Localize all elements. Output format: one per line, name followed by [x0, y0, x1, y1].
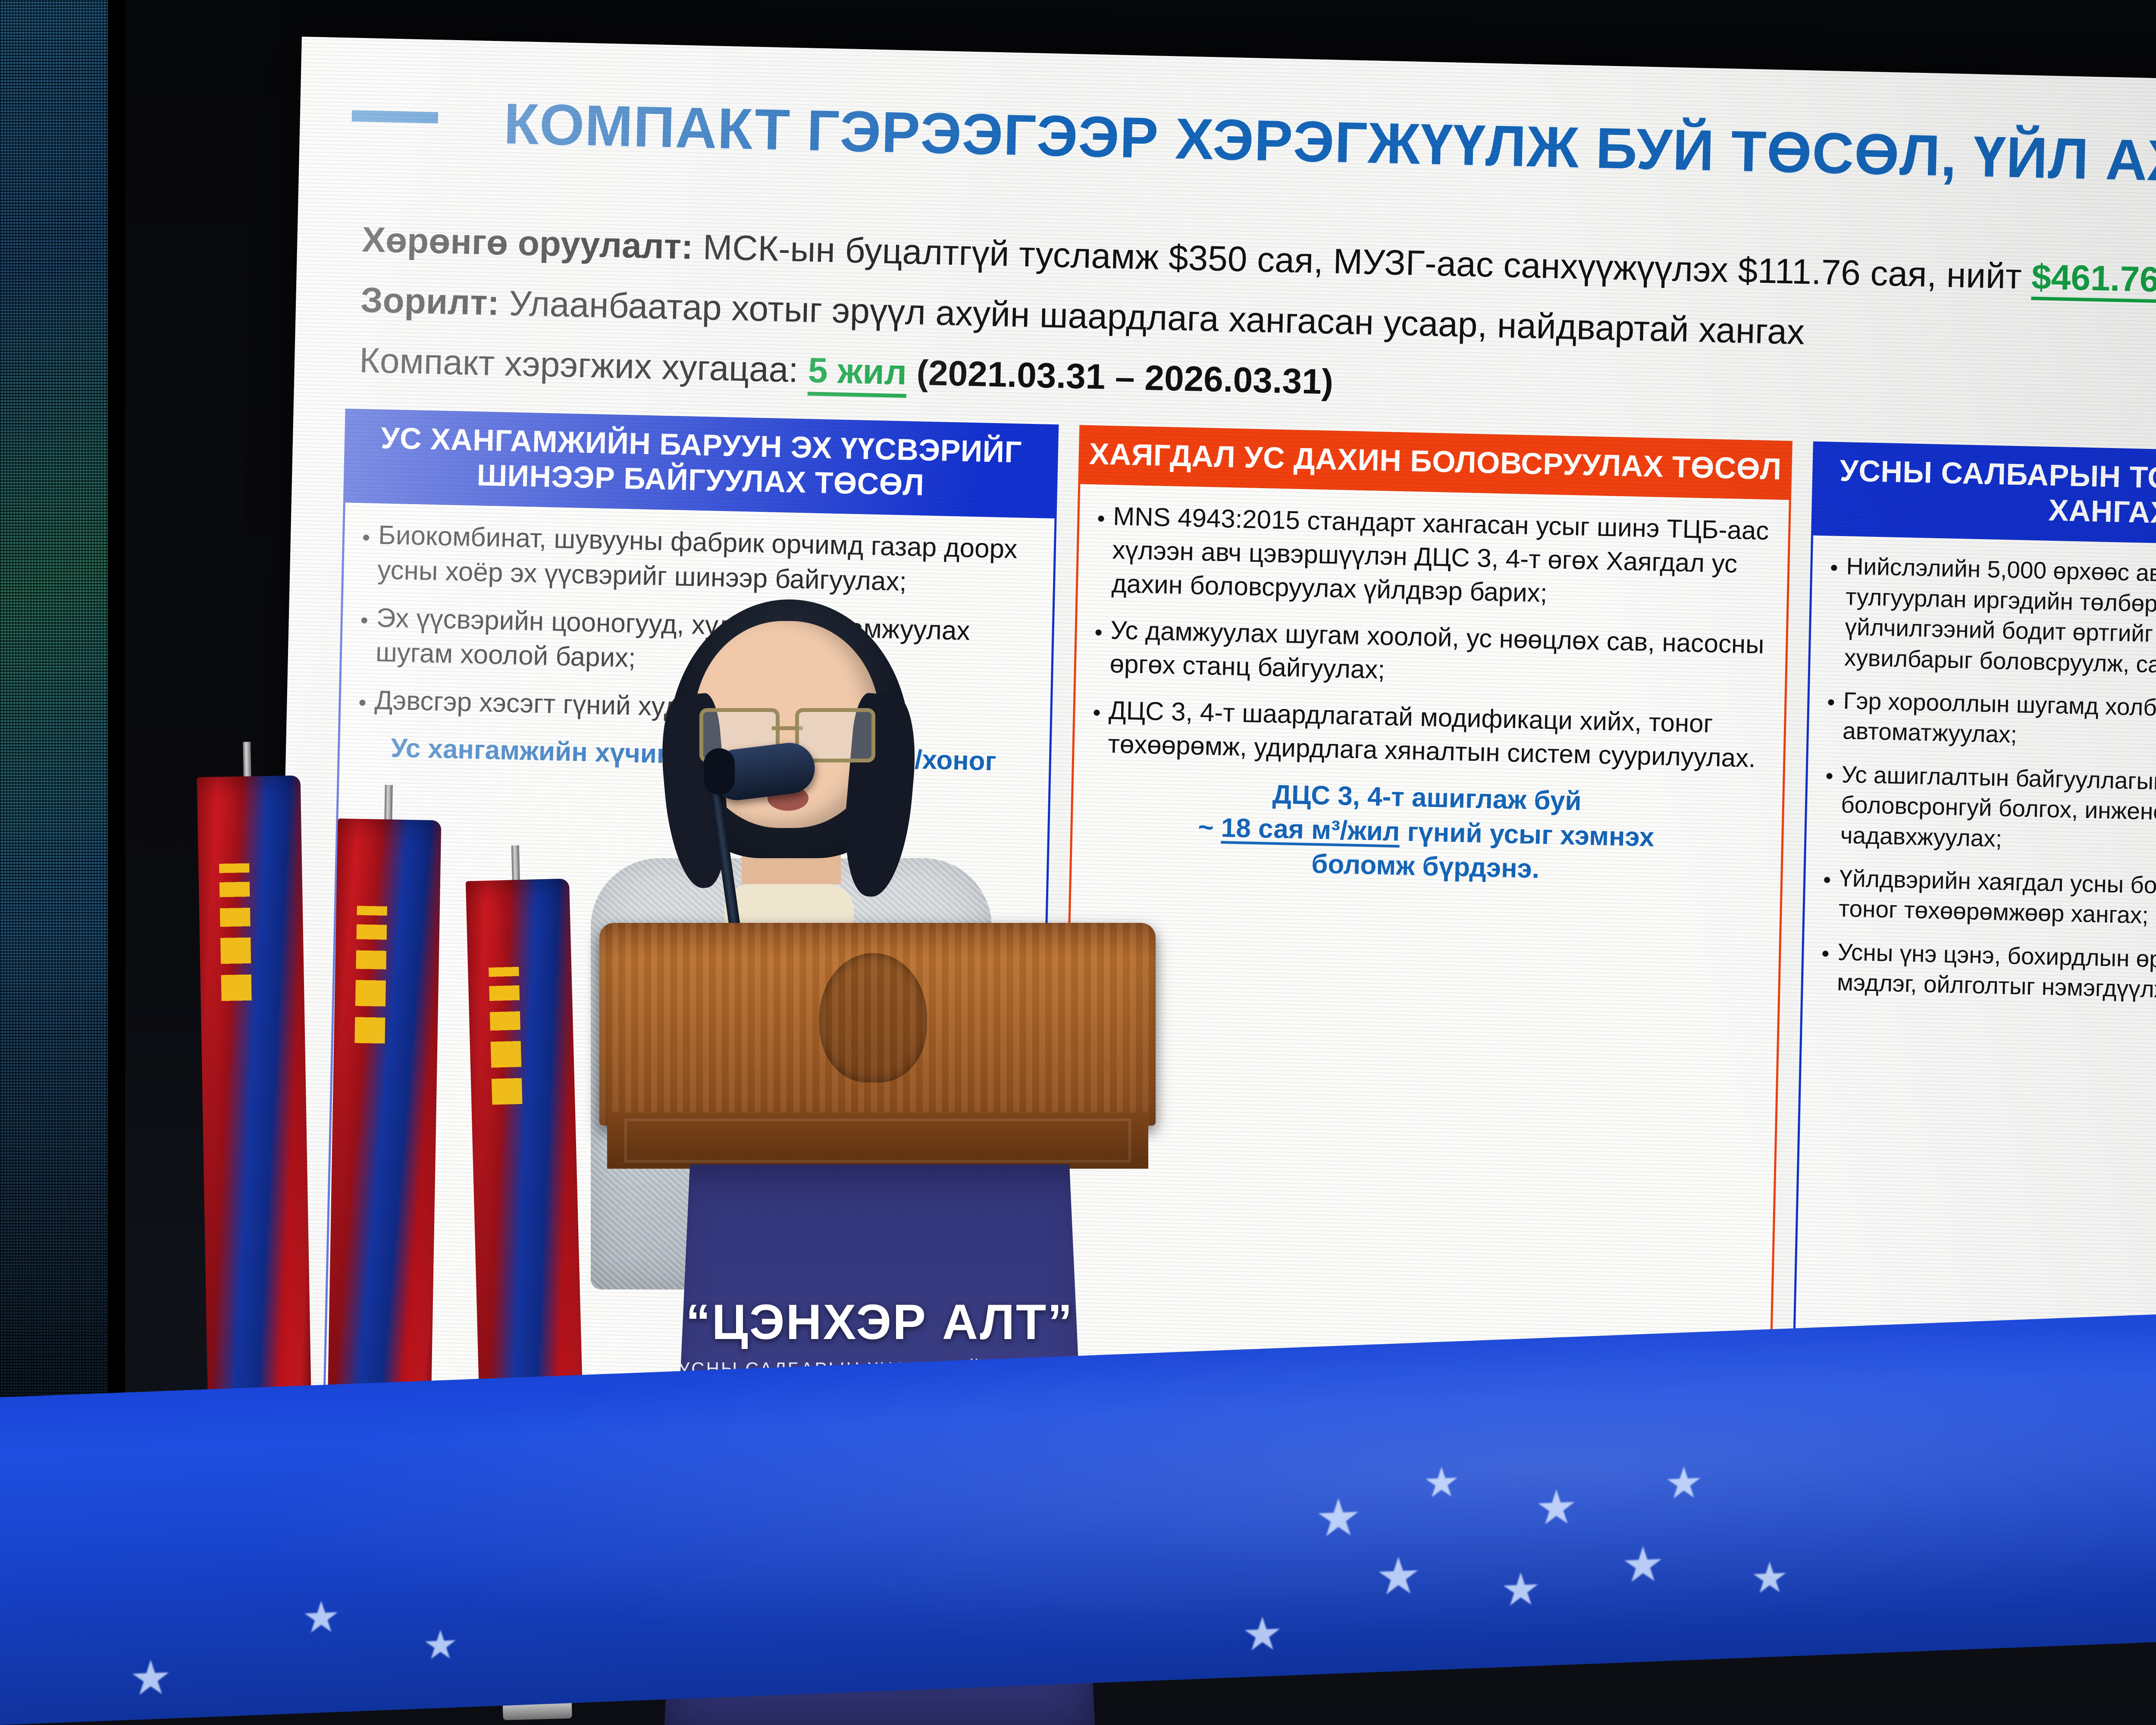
podium-emblem: [819, 953, 927, 1082]
flag-cloth: [197, 775, 312, 1450]
goal-label: Зорилт:: [360, 280, 499, 323]
star-gobo: ★: [129, 1650, 172, 1706]
star-gobo: ★: [1376, 1545, 1421, 1606]
footer-line-2-rest: гүний усыг хэмнэх: [1400, 817, 1655, 852]
star-gobo: ★: [1751, 1553, 1789, 1603]
star-gobo: ★: [423, 1621, 458, 1669]
soyombo-symbol: [488, 944, 523, 1131]
period-range: (2021.03.31 – 2026.03.31): [906, 353, 1334, 402]
column-header-1: УС ХАНГАМЖИЙН БАРУУН ЭХ ҮҮСВЭРИЙГ ШИНЭЭР…: [343, 408, 1059, 518]
star-gobo: ★: [1315, 1487, 1362, 1549]
volume-value: 18 сая м³/жил: [1221, 813, 1400, 847]
list-item: Гэр хорооллын шугамд холбогдсон ус түгээ…: [1842, 685, 2156, 761]
slide-title-row: КОМПАКТ ГЭРЭЭГЭЭР ХЭРЭГЖҮҮЛЖ БУЙ ТӨСӨЛ, …: [351, 90, 2156, 201]
list-item: Усны үнэ цэнэ, бохирдлын өртөгийн талаар…: [1836, 937, 2156, 1012]
approx-prefix: ~: [1198, 812, 1222, 842]
mongolian-flag: [192, 741, 317, 1476]
conference-stage-scene: КОМПАКТ ГЭРЭЭГЭЭР ХЭРЭГЖҮҮЛЖ БУЙ ТӨСӨЛ, …: [0, 0, 2156, 1725]
goal-text: Улаанбаатар хотыг эрүүл ахуйн шаардлага …: [499, 283, 1805, 352]
star-gobo: ★: [1535, 1479, 1578, 1536]
list-item: MNS 4943:2015 стандарт хангасан усыг шин…: [1111, 499, 1776, 615]
podium-desktop: [599, 923, 1156, 1126]
star-gobo: ★: [1621, 1536, 1664, 1594]
column-footer-2: ДЦС 3, 4-т ашиглаж буй ~ 18 сая м³/жил г…: [1083, 773, 1770, 891]
microphone-windscreen: [704, 748, 735, 795]
led-wall-left: [0, 0, 108, 1535]
list-item: Биокомбинат, шувууны фабрик орчимд газар…: [377, 518, 1041, 602]
column-header-3: УСНЫ САЛБАРЫН ТОГТВОРТОЙ БАЙДЛЫГ ХАНГАХ …: [1811, 442, 2156, 552]
star-gobo: ★: [1423, 1458, 1460, 1507]
list-item: Үйлдвэрийн хаягдал усны бохирдлыг хянах …: [1838, 863, 2156, 938]
project-column-sustainability: УСНЫ САЛБАРЫН ТОГТВОРТОЙ БАЙДЛЫГ ХАНГАХ …: [1791, 442, 2156, 1466]
period-value: 5 жил: [808, 351, 907, 398]
title-accent-dash: [352, 110, 439, 123]
slide-title: КОМПАКТ ГЭРЭЭГЭЭР ХЭРЭГЖҮҮЛЖ БУЙ ТӨСӨЛ, …: [454, 92, 2156, 201]
column-body-2: MNS 4943:2015 стандарт хангасан усыг шин…: [1057, 484, 1791, 1450]
investment-text: МСК-ын буцалтгүй тусламж $350 сая, МУЗГ-…: [693, 227, 2032, 296]
podium-title: “ЦЭНХЭР АЛТ”: [664, 1294, 1095, 1351]
bullet-list-2: MNS 4943:2015 стандарт хангасан усыг шин…: [1085, 499, 1776, 775]
bullet-list-3: Нийслэлийн 5,000 өрхөөс авсан судалгааны…: [1814, 551, 2156, 1012]
list-item: Нийслэлийн 5,000 өрхөөс авсан судалгааны…: [1844, 551, 2156, 687]
project-column-wastewater: ХАЯГДАЛ УС ДАХИН БОЛОВСРУУЛАХ ТӨСӨЛ MNS …: [1057, 425, 1793, 1450]
period-label: Компакт хэрэгжих хугацаа:: [359, 341, 799, 390]
soyombo-symbol: [219, 841, 252, 1027]
star-gobo: ★: [1501, 1562, 1541, 1617]
investment-total: $461.76 сая: [2031, 257, 2156, 304]
screen-bezel-left: [108, 0, 125, 1552]
star-gobo: ★: [302, 1591, 341, 1643]
star-gobo: ★: [1664, 1457, 1703, 1509]
list-item: ДЦС 3, 4-т шаардлагатай модификаци хийх,…: [1108, 693, 1772, 775]
list-item: Ус ашиглалтын байгууллагын хөрөнгийн уди…: [1840, 759, 2156, 865]
investment-label: Хөрөнгө оруулалт:: [362, 220, 694, 267]
soyombo-symbol: [354, 884, 387, 1069]
podium-trim-band: [607, 1113, 1148, 1169]
list-item: Ус дамжуулах шугам хоолой, ус нөөцлөх са…: [1109, 613, 1774, 695]
star-gobo: ★: [1242, 1607, 1283, 1662]
